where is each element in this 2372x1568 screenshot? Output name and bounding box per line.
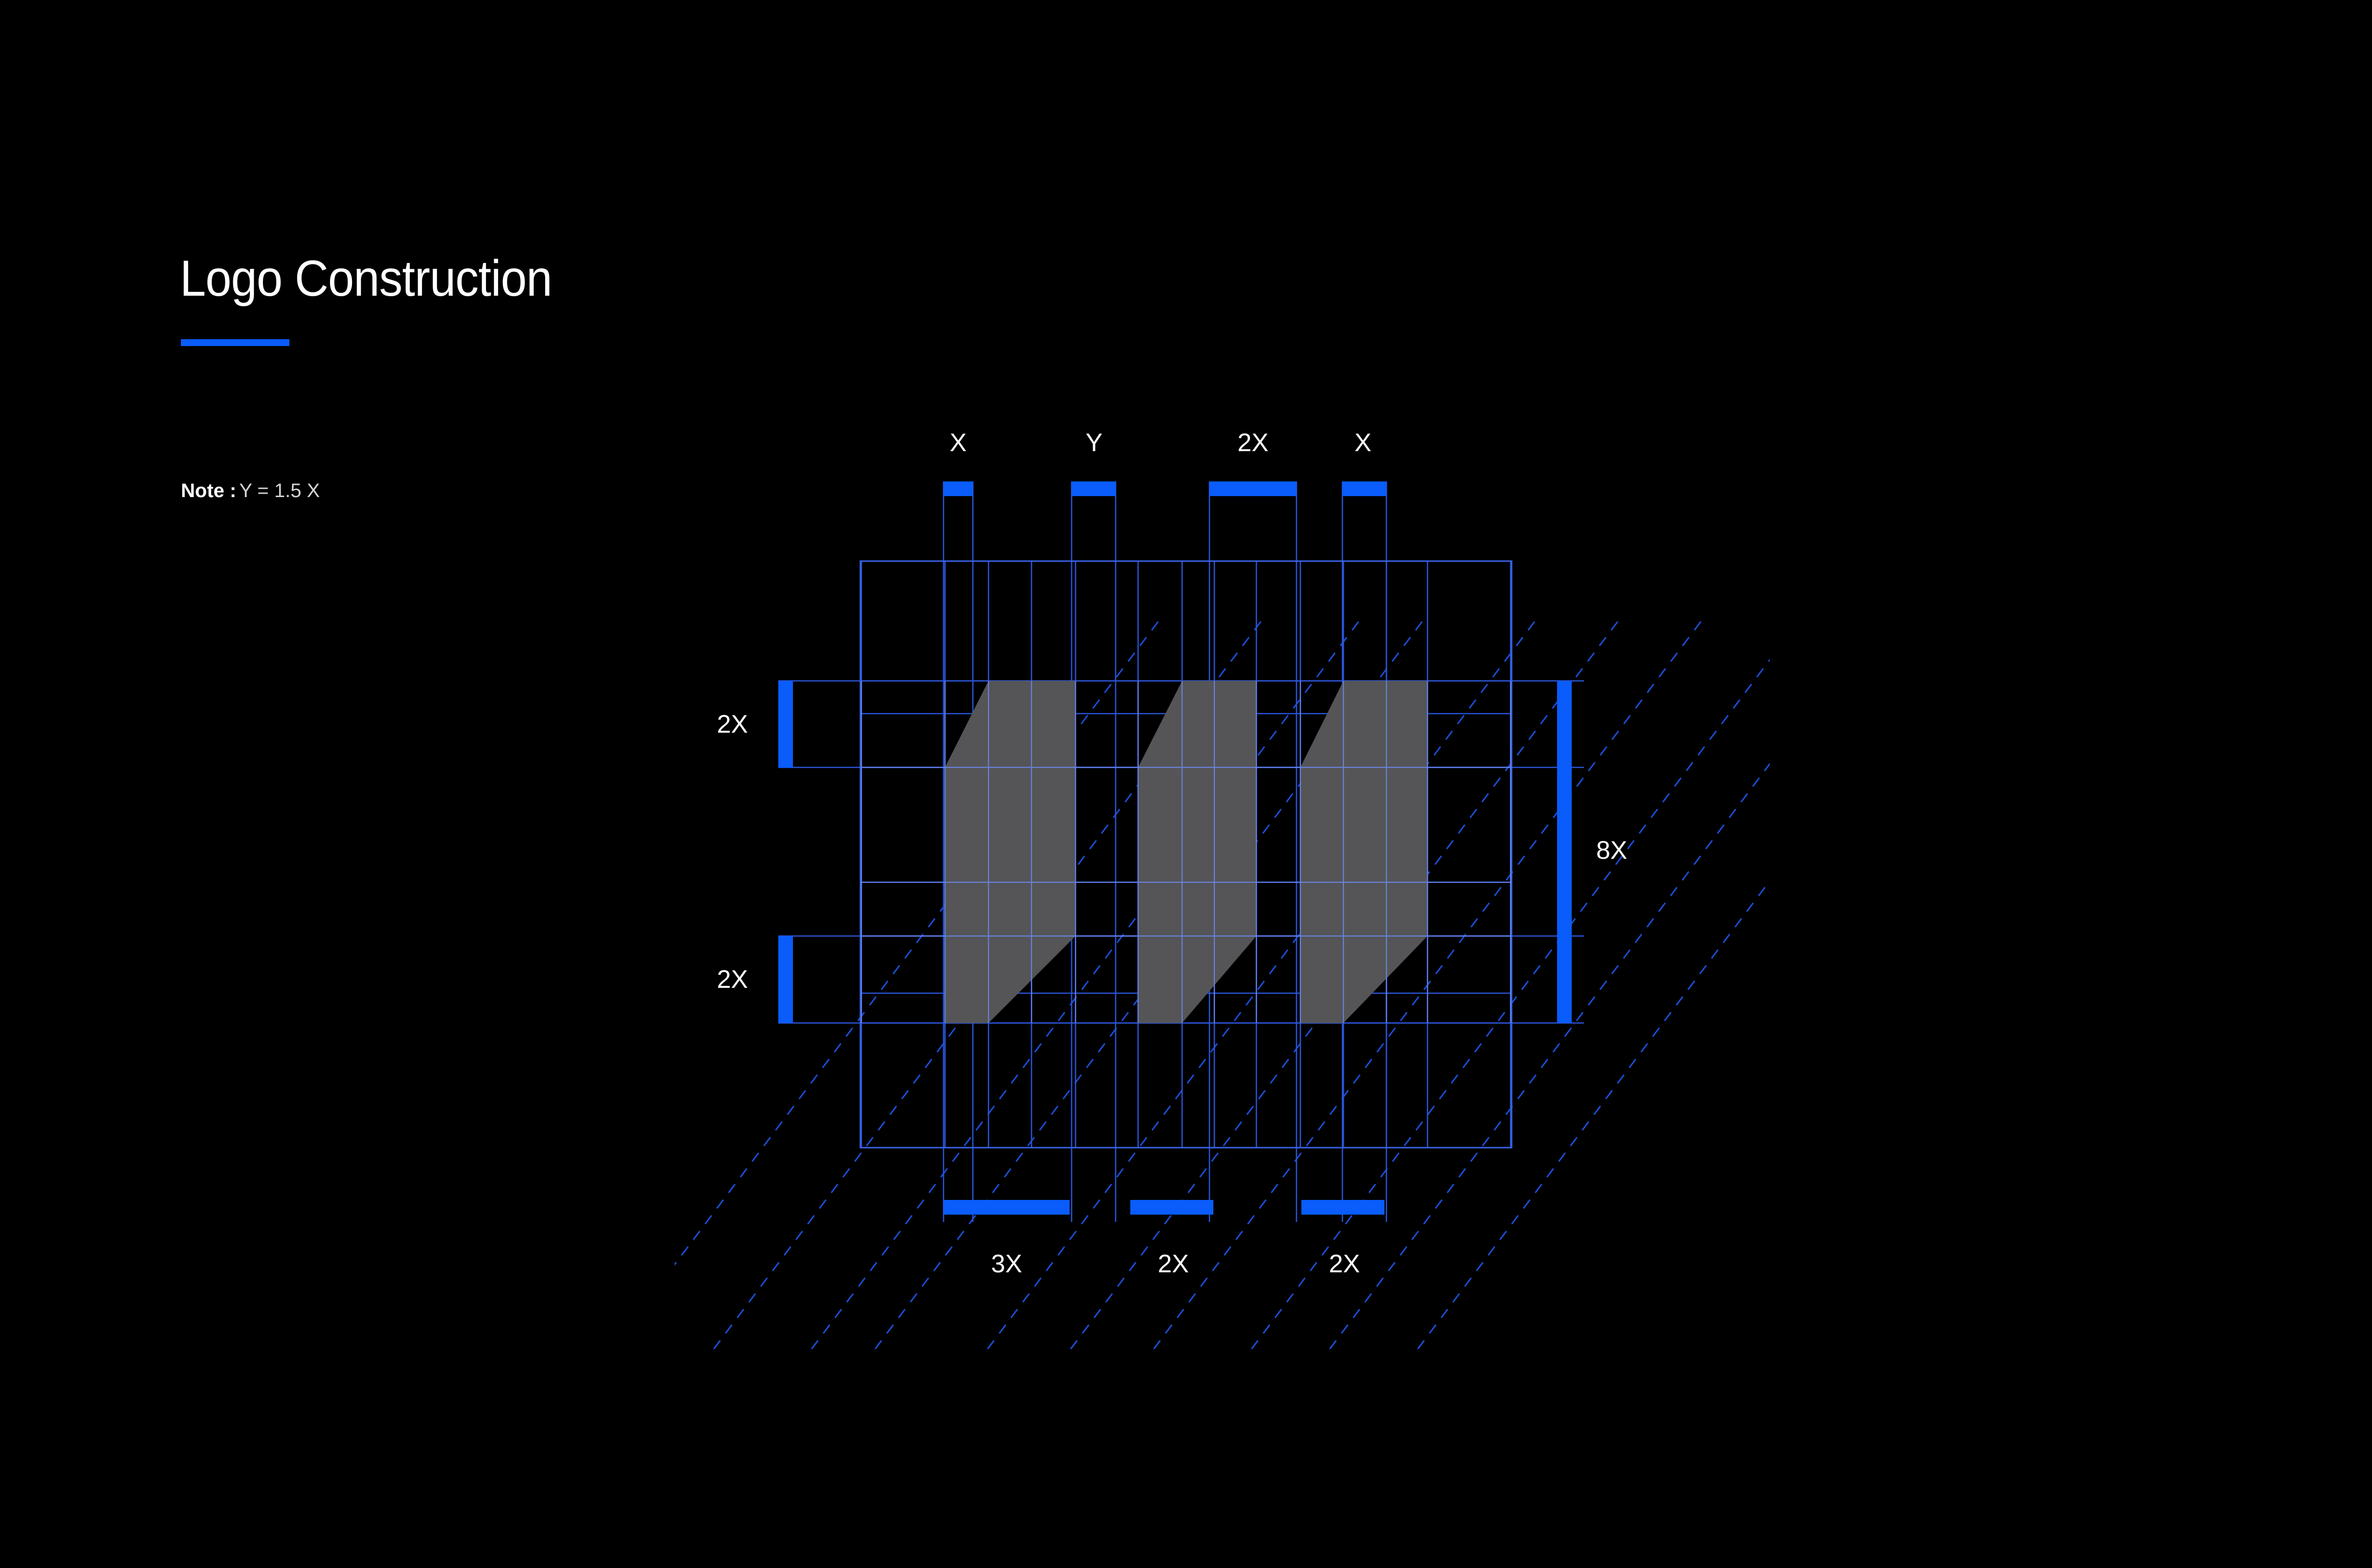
- glyph-2: [1138, 681, 1256, 1023]
- top-measure-label-1: Y: [1086, 430, 1103, 456]
- left-measure-label-0: 2X: [717, 712, 748, 737]
- top-measure-bar-1: [1072, 481, 1116, 496]
- construction-grid-svg: [733, 411, 1711, 1290]
- note-label: Note :: [181, 480, 236, 501]
- note-expression: Y = 1.5 X: [239, 480, 320, 501]
- top-measure-label-0: X: [950, 430, 967, 456]
- diagonal-guide-0: [611, 616, 1163, 1349]
- note-text: Note :Y = 1.5 X: [181, 480, 320, 502]
- bottom-measure-bar-0: [944, 1200, 1070, 1215]
- logo-glyph-group: [945, 681, 1428, 1023]
- glyph-1: [945, 681, 1076, 1023]
- logo-construction-diagram: [733, 411, 1711, 1290]
- page-title: Logo Construction: [180, 253, 552, 304]
- top-measure-bar-3: [1342, 481, 1386, 496]
- right-measure-label-0: 8X: [1596, 838, 1627, 863]
- glyph-3: [1300, 681, 1428, 1023]
- bottom-measure-label-0: 3X: [991, 1251, 1022, 1277]
- canvas: Logo Construction Note :Y = 1.5 X: [0, 0, 2372, 1568]
- title-accent-underline: [181, 339, 289, 346]
- diagonal-guide-9: [1418, 616, 1969, 1349]
- top-measure-bar-2: [1209, 481, 1296, 496]
- left-measure-label-1: 2X: [717, 967, 748, 992]
- bottom-measure-bar-1: [1130, 1200, 1213, 1215]
- diagonal-guide-2: [812, 616, 1363, 1349]
- left-measure-bar-0: [778, 681, 793, 768]
- bottom-measure-bar-2: [1301, 1200, 1384, 1215]
- left-measure-bar-1: [778, 936, 793, 1023]
- top-measure-label-3: X: [1355, 430, 1372, 456]
- top-measure-label-2: 2X: [1237, 430, 1269, 456]
- right-measure-bar-0: [1557, 681, 1572, 1023]
- bottom-measure-label-1: 2X: [1158, 1251, 1189, 1277]
- diagonal-guide-lines: [611, 616, 1969, 1349]
- top-measure-bar-0: [944, 481, 973, 496]
- bottom-measure-label-2: 2X: [1329, 1251, 1360, 1277]
